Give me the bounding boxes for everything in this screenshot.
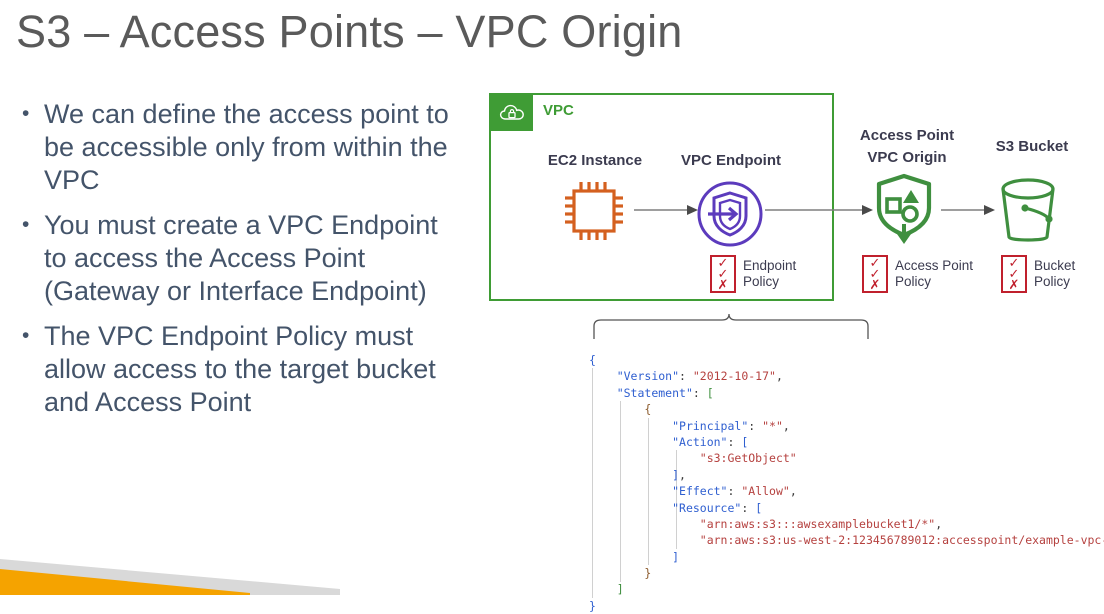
json-token: "Resource": [672, 501, 741, 515]
policy-document-icon: ✓ ✓ ✗: [1001, 255, 1027, 293]
policy-document-icon: ✓ ✓ ✗: [862, 255, 888, 293]
access-point-shield-icon: [873, 172, 935, 255]
json-token: :: [741, 501, 755, 515]
policy-label-line1: Access Point: [895, 258, 973, 274]
json-token: "arn:aws:s3:::awsexamplebucket1/*": [700, 517, 935, 531]
json-line: {: [589, 401, 1104, 417]
s3-bucket-icon: [992, 175, 1064, 252]
json-token: :: [727, 435, 741, 449]
json-line: ]: [589, 549, 1104, 565]
json-line: }: [589, 565, 1104, 581]
json-token: "2012-10-17": [693, 369, 776, 383]
cloud-lock-icon: [491, 95, 533, 131]
json-token: {: [644, 402, 651, 416]
json-token: ]: [617, 582, 624, 596]
json-token: "Version": [617, 369, 679, 383]
json-token: {: [589, 353, 596, 367]
json-line: ]: [589, 581, 1104, 597]
bullet-list: We can define the access point to be acc…: [14, 98, 454, 431]
policy-label-line2: Policy: [895, 274, 973, 290]
node-label-access-point-bottom: VPC Origin: [855, 149, 959, 166]
node-label-ec2: EC2 Instance: [545, 152, 645, 169]
policy-mark-3: ✗: [718, 280, 729, 291]
json-token: }: [644, 566, 651, 580]
json-token: ]: [672, 468, 679, 482]
json-token: "Principal": [672, 419, 748, 433]
json-token: "Effect": [672, 484, 727, 498]
json-token: :: [748, 419, 762, 433]
policy-chip-bucket: ✓ ✓ ✗ Bucket Policy: [1001, 255, 1075, 293]
json-line: "Version": "2012-10-17",: [589, 368, 1104, 384]
json-line: "Principal": "*",: [589, 418, 1104, 434]
json-line: ],: [589, 467, 1104, 483]
vpc-endpoint-shield-icon: [696, 180, 764, 253]
list-item: We can define the access point to be acc…: [14, 98, 454, 197]
policy-label-line2: Policy: [1034, 274, 1075, 290]
json-line: "arn:aws:s3:us-west-2:123456789012:acces…: [589, 532, 1104, 548]
json-token: [: [755, 501, 762, 515]
policy-mark-3: ✗: [870, 280, 881, 291]
json-line: {: [589, 352, 1104, 368]
json-line: "arn:aws:s3:::awsexamplebucket1/*",: [589, 516, 1104, 532]
policy-label: Endpoint Policy: [743, 258, 796, 290]
decoration-orange-band: [0, 561, 250, 595]
json-token: [: [707, 386, 714, 400]
json-policy-code: { "Version": "2012-10-17", "Statement": …: [589, 352, 1104, 614]
arrow-ec2-to-endpoint: [634, 202, 700, 223]
json-token: "Statement": [617, 386, 693, 400]
node-label-vpc-endpoint: VPC Endpoint: [678, 152, 784, 169]
json-token: "Action": [672, 435, 727, 449]
list-item: You must create a VPC Endpoint to access…: [14, 209, 454, 308]
arrow-access-point-to-bucket: [941, 202, 997, 223]
policy-mark-3: ✗: [1009, 280, 1020, 291]
json-token: :: [693, 386, 707, 400]
arrow-endpoint-to-access-point: [765, 202, 875, 223]
policy-label: Access Point Policy: [895, 258, 973, 290]
ec2-chip-icon: [558, 176, 630, 251]
json-token: ,: [790, 484, 797, 498]
policy-label-line2: Policy: [743, 274, 796, 290]
json-token: }: [589, 599, 596, 613]
page-title: S3 – Access Points – VPC Origin: [16, 6, 683, 58]
policy-label-line1: Bucket: [1034, 258, 1075, 274]
json-token: "*": [762, 419, 783, 433]
json-token: "s3:GetObject": [700, 451, 797, 465]
json-token: :: [679, 369, 693, 383]
json-token: [: [741, 435, 748, 449]
json-line: }: [589, 598, 1104, 614]
brace-connector: [592, 310, 870, 345]
json-token: "arn:aws:s3:us-west-2:123456789012:acces…: [700, 533, 1104, 547]
json-token: ,: [776, 369, 783, 383]
json-token: ,: [679, 468, 686, 482]
json-line: "Action": [: [589, 434, 1104, 450]
json-line: "Statement": [: [589, 385, 1104, 401]
json-token: ,: [783, 419, 790, 433]
json-token: :: [727, 484, 741, 498]
json-line: "Effect": "Allow",: [589, 483, 1104, 499]
json-line: "s3:GetObject": [589, 450, 1104, 466]
json-token: ]: [672, 550, 679, 564]
policy-chip-endpoint: ✓ ✓ ✗ Endpoint Policy: [710, 255, 796, 293]
node-label-s3-bucket: S3 Bucket: [984, 138, 1080, 155]
node-label-access-point-top: Access Point: [855, 127, 959, 144]
json-token: ,: [935, 517, 942, 531]
json-token: "Allow": [741, 484, 789, 498]
json-line: "Resource": [: [589, 500, 1104, 516]
vpc-label: VPC: [543, 102, 574, 119]
policy-document-icon: ✓ ✓ ✗: [710, 255, 736, 293]
policy-label-line1: Endpoint: [743, 258, 796, 274]
policy-chip-access-point: ✓ ✓ ✗ Access Point Policy: [862, 255, 973, 293]
policy-label: Bucket Policy: [1034, 258, 1075, 290]
list-item: The VPC Endpoint Policy must allow acces…: [14, 320, 454, 419]
